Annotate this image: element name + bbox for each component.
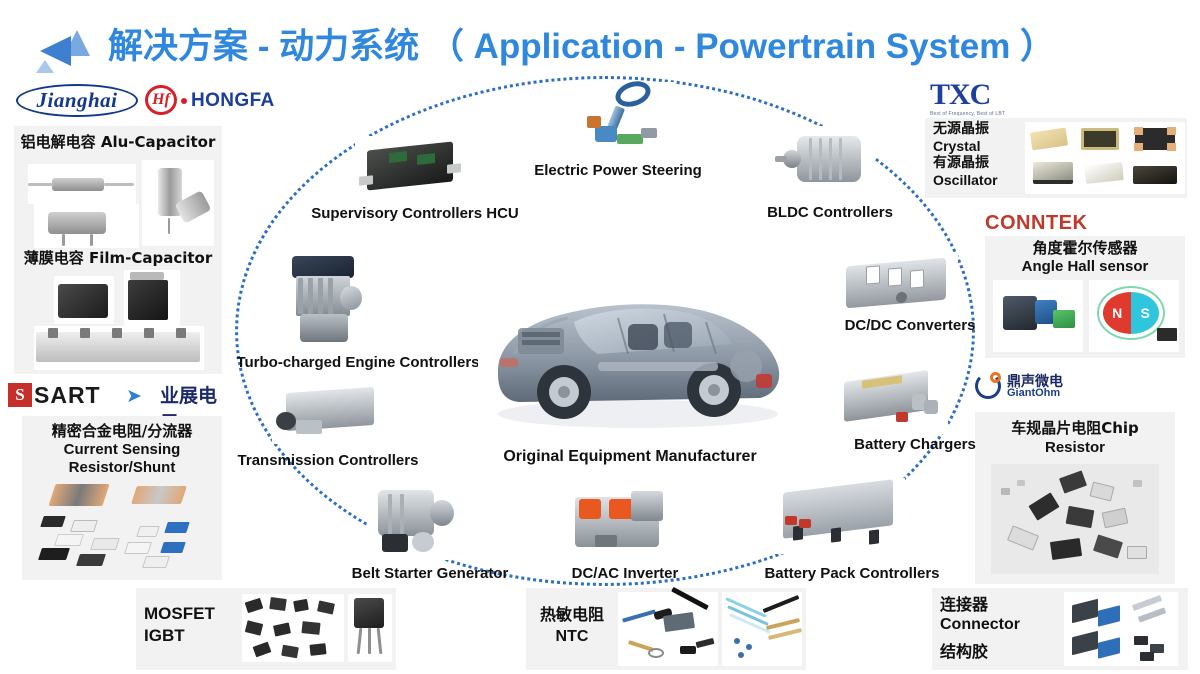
hall-motor-image	[993, 280, 1083, 352]
crystal-line-3: 有源晶振	[933, 156, 1023, 172]
adhesive-title-cn: 结构胶	[940, 643, 1050, 661]
txc-tagline: Best of Frequency, Best of LBT	[930, 111, 1030, 117]
page-title: 解决方案 - 动力系统 （ Application - Powertrain S…	[108, 18, 1055, 69]
chip-resistor-image	[991, 464, 1159, 574]
oem-label: Original Equipment Manufacturer	[430, 448, 830, 466]
supervisory-controllers-hcu-image	[355, 136, 465, 196]
giantohm-dot-icon	[990, 372, 1001, 383]
dcac-inverter-label: DC/AC Inverter	[545, 566, 705, 583]
alu-film-capacitor-panel: 铝电解电容 Alu-Capacitor 薄膜电容 Film-Capacitor	[14, 126, 222, 374]
sart-mark-icon: S	[8, 383, 32, 407]
electric-power-steering-image	[575, 82, 675, 152]
giantohm-wordmark-en: GiantOhm	[1007, 387, 1060, 399]
dcdc-converters-label: DC/DC Converters	[820, 318, 1000, 335]
crystal-parts-image	[1025, 122, 1185, 194]
hall-magnet-image: N S	[1089, 280, 1179, 352]
battery-chargers-label: Battery Chargers	[830, 437, 1000, 454]
film-capacitor-title: 薄膜电容 Film-Capacitor	[14, 250, 222, 267]
electric-power-steering-label: Electric Power Steering	[518, 163, 718, 180]
connector-parts-image	[1064, 592, 1178, 666]
brand-logo-giantohm: 鼎声微电 GiantOhm	[975, 372, 1135, 406]
dcac-inverter-image	[565, 485, 675, 561]
mosfet-parts-image	[242, 594, 344, 662]
power-module-image	[34, 326, 204, 370]
brand-logo-hongfa: Hf HONGFA	[145, 86, 257, 116]
triangle-mountain-logo	[36, 28, 106, 74]
chip-resistor-title-1: 车规晶片电阻Chip	[975, 420, 1175, 437]
chip-resistor-panel: 车规晶片电阻Chip Resistor	[975, 412, 1175, 584]
brand-logo-jianghai: Jianghai	[16, 84, 138, 117]
crystal-oscillator-panel: 无源晶振 Crystal 有源晶振 Oscillator	[925, 118, 1187, 198]
transmission-controllers-label: Transmission Controllers	[228, 453, 428, 470]
turbo-charged-engine-image	[282, 250, 374, 354]
vehicle-svg	[478, 262, 798, 442]
dcdc-converters-image	[838, 252, 958, 316]
crystal-line-2: Crystal	[933, 139, 1023, 155]
supervisory-controllers-hcu-label: Supervisory Controllers HCU	[300, 206, 530, 223]
brand-logo-txc: TXC Best of Frequency, Best of LBT	[930, 80, 1030, 120]
slide-canvas: 解决方案 - 动力系统 （ Application - Powertrain S…	[0, 0, 1200, 674]
current-sensing-resistor-panel: 精密合金电阻/分流器 Current Sensing Resistor/Shun…	[22, 416, 222, 580]
mosfet-label: MOSFET	[144, 604, 254, 623]
belt-starter-generator-image	[368, 480, 468, 560]
igbt-label: IGBT	[144, 626, 254, 645]
vehicle-cutaway-image	[478, 262, 798, 442]
ntc-sensors-image-1	[618, 592, 718, 666]
shunt-resistor-image	[34, 482, 214, 574]
brand-logo-sart: S SART ➤ 业展电子	[8, 381, 220, 413]
capacitor-radial-image	[34, 204, 139, 248]
turbo-charged-engine-controllers-label: Turbo-charged Engine Controllers	[228, 355, 488, 372]
capacitor-axial-image	[28, 164, 136, 204]
mosfet-igbt-panel: MOSFET IGBT	[136, 588, 396, 670]
txc-wordmark: TXC	[930, 80, 1030, 110]
yezhan-mark-icon: ➤	[126, 385, 142, 408]
connector-title-en: Connector	[940, 616, 1060, 634]
chip-resistor-title-2: Resistor	[975, 440, 1175, 457]
ntc-sensors-image-2	[722, 592, 802, 666]
battery-pack-controllers-image	[775, 478, 905, 554]
hongfa-wordmark: HONGFA	[191, 90, 275, 112]
connector-adhesive-panel: 连接器 Connector 结构胶	[932, 588, 1188, 670]
current-sensing-title-en2: Resistor/Shunt	[22, 460, 222, 477]
film-capacitor-block-image	[54, 276, 114, 324]
brand-logo-conntek: CONNTEK	[985, 212, 1105, 236]
bldc-controllers-image	[775, 126, 875, 200]
hongfa-dot-icon	[181, 98, 187, 104]
battery-pack-controllers-label: Battery Pack Controllers	[742, 566, 962, 583]
crystal-line-4: Oscillator	[933, 173, 1029, 189]
hongfa-mark-icon: Hf	[145, 85, 177, 115]
film-capacitor-tall-image	[124, 270, 180, 326]
transmission-controllers-image	[272, 382, 382, 444]
ntc-title-cn: 热敏电阻	[530, 606, 614, 624]
hall-sensor-title-en: Angle Hall sensor	[985, 259, 1185, 276]
ntc-thermistor-panel: 热敏电阻 NTC	[526, 588, 806, 670]
connector-title-cn: 连接器	[940, 596, 1050, 614]
current-sensing-title-cn: 精密合金电阻/分流器	[22, 423, 222, 440]
slide-header: 解决方案 - 动力系统 （ Application - Powertrain S…	[0, 8, 1200, 70]
bldc-controllers-label: BLDC Controllers	[750, 205, 910, 222]
ntc-title-en: NTC	[530, 628, 614, 646]
igbt-package-image	[348, 594, 392, 662]
bottom-partner-strip: K 快捷新 KUAIJIEXIN E ZMUSEMI 鑫茂信 MOSFET IG…	[0, 586, 1200, 674]
crystal-line-1: 无源晶振	[933, 122, 1023, 138]
hall-sensor-title-cn: 角度霍尔传感器	[985, 240, 1185, 257]
alu-capacitor-title: 铝电解电容 Alu-Capacitor	[14, 134, 222, 151]
angle-hall-sensor-panel: 角度霍尔传感器 Angle Hall sensor N S	[985, 236, 1185, 358]
sart-wordmark: SART	[34, 382, 101, 409]
belt-starter-generator-label: Belt Starter Generator	[330, 566, 530, 583]
battery-chargers-image	[838, 368, 948, 434]
capacitor-can-image	[142, 160, 214, 246]
current-sensing-title-en1: Current Sensing	[22, 442, 222, 459]
